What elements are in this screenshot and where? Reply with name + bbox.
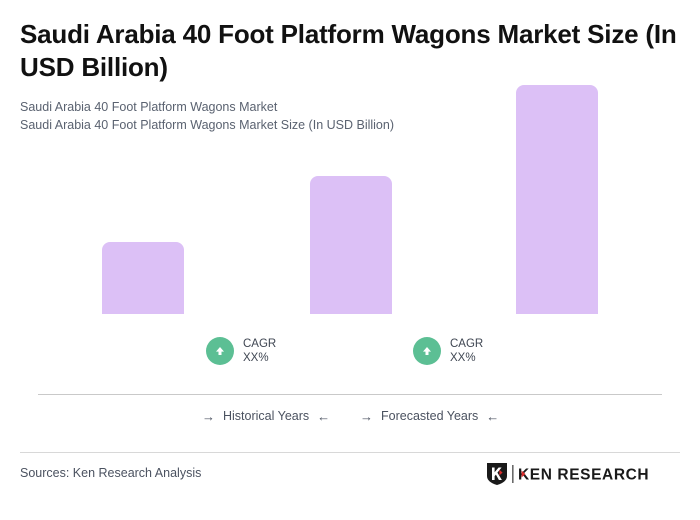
bar-chart: ~USD XX Bn CAGRXX% ~USD 1.2 Bn CAGRXX% ~ (0, 0, 700, 440)
ken-research-shield-icon (486, 462, 508, 486)
cagr-label-2: CAGRXX% (450, 337, 483, 365)
arrow-left-icon: ← (486, 410, 499, 423)
arrow-up-icon (206, 337, 234, 365)
period-forecasted: → Forecasted Years ← (360, 409, 499, 423)
svg-text:KEN RESEARCH: KEN RESEARCH (518, 467, 649, 484)
bar-1[interactable] (102, 242, 184, 314)
cagr-value-1: XX% (243, 352, 269, 364)
period-forecasted-label: Forecasted Years (381, 409, 478, 423)
arrow-up-icon (413, 337, 441, 365)
arrow-left-icon: ← (317, 410, 330, 423)
bar-3[interactable] (516, 85, 598, 314)
cagr-badge-2: CAGRXX% (413, 337, 483, 365)
ken-research-logo: KEN RESEARCH (486, 462, 664, 486)
cagr-badge-1: CAGRXX% (206, 337, 276, 365)
arrow-right-icon: → (202, 410, 215, 423)
sources-text: Sources: Ken Research Analysis (20, 466, 201, 480)
cagr-title-1: CAGR (243, 338, 276, 350)
period-labels: → Historical Years ← → Forecasted Years … (38, 409, 662, 429)
period-historical: → Historical Years ← (202, 409, 330, 423)
cagr-title-2: CAGR (450, 338, 483, 350)
ken-research-wordmark: KEN RESEARCH (512, 464, 664, 484)
bar-2[interactable] (310, 176, 392, 314)
x-axis-line (38, 394, 662, 395)
cagr-value-2: XX% (450, 352, 476, 364)
period-historical-label: Historical Years (223, 409, 309, 423)
footer-divider (20, 452, 680, 453)
cagr-label-1: CAGRXX% (243, 337, 276, 365)
arrow-right-icon: → (360, 410, 373, 423)
chart-page: Saudi Arabia 40 Foot Platform Wagons Mar… (0, 0, 700, 520)
